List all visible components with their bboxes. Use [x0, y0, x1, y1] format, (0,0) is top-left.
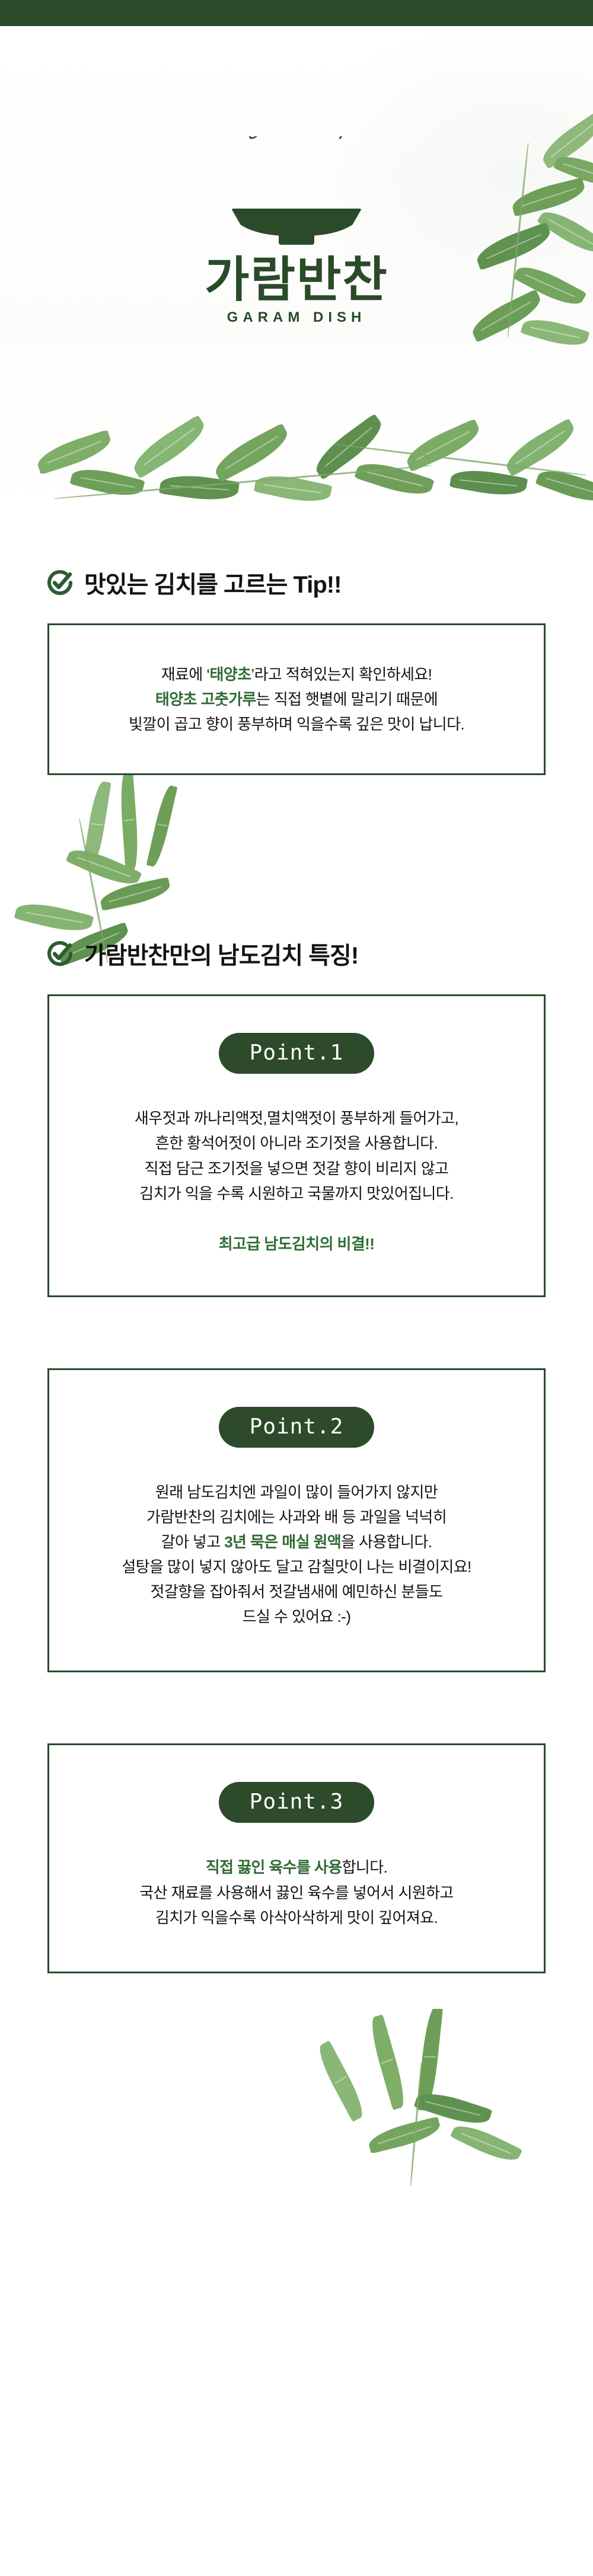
- point-box: Point.3직접 끓인 육수를 사용합니다.국산 재료를 사용해서 끓인 육수…: [47, 1743, 546, 1973]
- spacer: [67, 1448, 526, 1480]
- plain-text: 김치가 익을수록 아삭아삭하게 맛이 깊어져요.: [155, 1909, 438, 1927]
- tip-text-block: 재료에 ‘태양초’라고 적혀있는지 확인하세요!태양초 고춧가루는 직접 햇볕에…: [67, 662, 526, 737]
- brand-name-kr: 가람반찬: [169, 255, 424, 306]
- plain-text: 갈아 넣고: [161, 1533, 225, 1551]
- bowl-icon: [231, 209, 362, 247]
- arc-text-content: 정성을 더하다: [242, 136, 352, 143]
- highlight-text: 태양초 고춧가루: [155, 690, 256, 708]
- brand-logo: 정성을 더하다 가람반찬 GARAM DISH: [169, 136, 424, 326]
- plain-text: 을 사용합니다.: [341, 1533, 432, 1551]
- top-bar: [0, 0, 593, 26]
- section-heading-features: 가람반찬만의 남도김치 특징!: [0, 936, 593, 971]
- plain-text: 젓갈향을 잡아줘서 젓갈냄새에 예민하신 분들도: [151, 1583, 443, 1601]
- text-line: 재료에 ‘태양초’라고 적혀있는지 확인하세요!: [67, 662, 526, 687]
- plain-text: 빛깔이 곱고 향이 풍부하며 익을수록 깊은 맛이 납니다.: [129, 715, 464, 733]
- text-line: 젓갈향을 잡아줘서 젓갈냄새에 예민하신 분들도: [67, 1579, 526, 1604]
- text-line: 원래 남도김치엔 과일이 많이 들어가지 않지만: [67, 1480, 526, 1505]
- plain-text: 재료에 ‘: [161, 665, 210, 683]
- check-circle-icon: [46, 940, 74, 967]
- text-line: 국산 재료를 사용해서 끓인 육수를 넣어서 시원하고: [67, 1880, 526, 1905]
- text-line: 빛깔이 곱고 향이 풍부하며 익을수록 깊은 맛이 납니다.: [67, 712, 526, 737]
- spacer: [0, 524, 593, 565]
- plain-text: 직접 담근 조기젓을 넣으면 젓갈 향이 비리지 않고: [145, 1160, 449, 1177]
- highlight-text: 3년 묵은 매실 원액: [224, 1533, 341, 1551]
- spacer: [0, 971, 593, 994]
- point-badge: Point.2: [219, 1407, 375, 1448]
- spacer: [0, 1297, 593, 1368]
- product-detail-page: 정성을 더하다 가람반찬 GARAM DISH 맛있는 김치를 고르는 Tip!…: [0, 0, 593, 2187]
- text-line: 직접 끓인 육수를 사용합니다.: [67, 1855, 526, 1880]
- logo-arc-text: 정성을 더하다: [169, 136, 424, 212]
- text-line: 설탕을 많이 넣지 않아도 달고 감칠맛이 나는 비결이지요!: [67, 1554, 526, 1579]
- check-circle-icon: [46, 569, 74, 596]
- plain-text: 드실 수 있어요 :-): [243, 1608, 351, 1625]
- text-line: 드실 수 있어요 :-): [67, 1604, 526, 1629]
- point-box: Point.1새우젓과 까나리액젓,멸치액젓이 풍부하게 들어가고,흔한 황석어…: [47, 994, 546, 1297]
- text-line: 갈아 넣고 3년 묵은 매실 원액을 사용합니다.: [67, 1529, 526, 1554]
- point-box: Point.2원래 남도김치엔 과일이 많이 들어가지 않지만가람반찬의 김치에…: [47, 1368, 546, 1673]
- point-tagline: 최고급 남도김치의 비결!!: [67, 1232, 526, 1254]
- point-badge: Point.1: [219, 1033, 375, 1074]
- spacer: [67, 1074, 526, 1106]
- plain-text: 흔한 황석어젓이 아니라 조기젓을 사용합니다.: [155, 1134, 438, 1152]
- text-line: 흔한 황석어젓이 아니라 조기젓을 사용합니다.: [67, 1131, 526, 1156]
- point-badge: Point.3: [219, 1782, 375, 1823]
- plain-text: 김치가 익을 수록 시원하고 국물까지 맛있어집니다.: [139, 1185, 453, 1202]
- plain-text: 원래 남도김치엔 과일이 많이 들어가지 않지만: [155, 1483, 438, 1501]
- text-line: 태양초 고춧가루는 직접 햇볕에 말리기 때문에: [67, 687, 526, 712]
- spacer: [0, 1973, 593, 2009]
- text-line: 새우젓과 까나리액젓,멸치액젓이 풍부하게 들어가고,: [67, 1106, 526, 1131]
- hero-section: 정성을 더하다 가람반찬 GARAM DISH: [0, 26, 593, 524]
- plain-text: 합니다.: [342, 1858, 388, 1876]
- plain-text: 국산 재료를 사용해서 끓인 육수를 넣어서 시원하고: [139, 1884, 453, 1902]
- plain-text: 가람반찬의 김치에는 사과와 배 등 과일을 넉넉히: [146, 1508, 447, 1526]
- spacer: [67, 1823, 526, 1855]
- brand-name-en: GARAM DISH: [169, 309, 424, 326]
- text-line: 직접 담근 조기젓을 넣으면 젓갈 향이 비리지 않고: [67, 1156, 526, 1181]
- plain-text: ’라고 적혀있는지 확인하세요!: [251, 665, 432, 683]
- section-title-features: 가람반찬만의 남도김치 특징!: [84, 936, 358, 971]
- plain-text: 설탕을 많이 넣지 않아도 달고 감칠맛이 나는 비결이지요!: [122, 1558, 471, 1576]
- highlight-text: 직접 끓인 육수를 사용: [206, 1858, 342, 1876]
- text-line: 김치가 익을수록 아삭아삭하게 맛이 깊어져요.: [67, 1905, 526, 1930]
- spacer: [0, 600, 593, 623]
- highlight-text: 태양초: [209, 665, 251, 683]
- text-line: 김치가 익을 수록 시원하고 국물까지 맛있어집니다.: [67, 1181, 526, 1206]
- plain-text: 는 직접 햇볕에 말리기 때문에: [256, 690, 438, 708]
- spacer: [67, 1206, 526, 1232]
- points-container: Point.1새우젓과 까나리액젓,멸치액젓이 풍부하게 들어가고,흔한 황석어…: [0, 994, 593, 2008]
- text-line: 가람반찬의 김치에는 사과와 배 등 과일을 넉넉히: [67, 1505, 526, 1529]
- section-title-tip: 맛있는 김치를 고르는 Tip!!: [84, 565, 341, 600]
- section-heading-tip: 맛있는 김치를 고르는 Tip!!: [0, 565, 593, 600]
- spacer: [0, 1672, 593, 1743]
- plain-text: 새우젓과 까나리액젓,멸치액젓이 풍부하게 들어가고,: [135, 1109, 458, 1127]
- tip-box: 재료에 ‘태양초’라고 적혀있는지 확인하세요!태양초 고춧가루는 직접 햇볕에…: [47, 623, 546, 775]
- svg-text:정성을 더하다: 정성을 더하다: [242, 136, 352, 143]
- leaf-decoration-footer: [0, 2009, 593, 2187]
